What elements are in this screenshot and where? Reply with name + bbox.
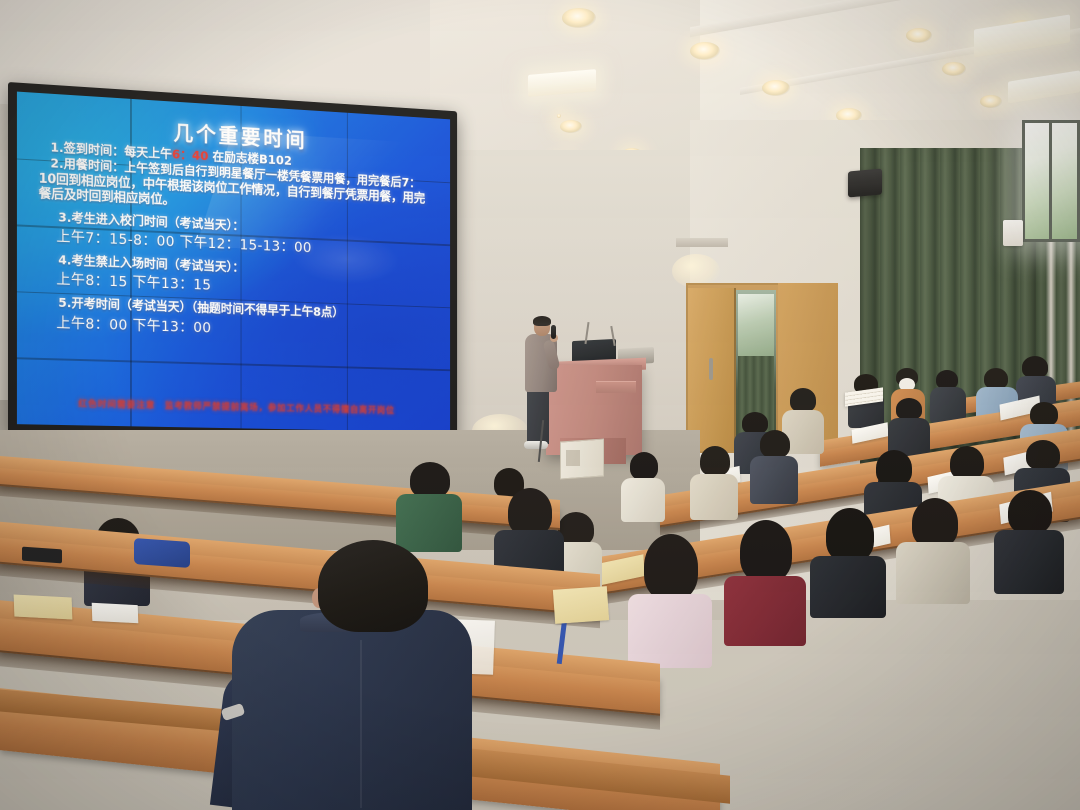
video-wall-screen: 几个重要时间 1.签到时间：每天上午6：40 在励志楼B102 2.用餐时间：上… bbox=[17, 92, 450, 433]
person-torso bbox=[628, 594, 712, 668]
person-hair bbox=[742, 412, 768, 434]
slide-content: 几个重要时间 1.签到时间：每天上午6：40 在励志楼B102 2.用餐时间：上… bbox=[17, 92, 450, 433]
item1-red-time: 6：40 bbox=[172, 147, 208, 164]
person-hair bbox=[630, 452, 658, 480]
person-torso bbox=[896, 542, 970, 604]
person-hair bbox=[950, 446, 984, 480]
person-torso bbox=[396, 494, 462, 552]
person-torso bbox=[621, 478, 665, 522]
ceiling-downlight bbox=[560, 120, 582, 133]
desk-items bbox=[22, 547, 62, 564]
lectern-drawer[interactable] bbox=[596, 381, 636, 393]
person-hair bbox=[876, 450, 912, 486]
ceiling-downlight bbox=[690, 42, 720, 60]
person-hair bbox=[644, 534, 698, 600]
person-hair bbox=[740, 520, 792, 582]
person-hair bbox=[1026, 440, 1060, 470]
person-torso bbox=[750, 456, 798, 504]
person-hair bbox=[896, 398, 922, 420]
presenter-hair bbox=[533, 316, 551, 326]
person-hair bbox=[790, 388, 816, 412]
foreground-person-hair bbox=[318, 540, 428, 632]
person-torso bbox=[994, 530, 1064, 594]
presenter-shoe bbox=[524, 441, 548, 449]
lecture-hall-photo: 几个重要时间 1.签到时间：每天上午6：40 在励志楼B102 2.用餐时间：上… bbox=[0, 0, 1080, 810]
video-wall-display[interactable]: 几个重要时间 1.签到时间：每天上午6：40 在励志楼B102 2.用餐时间：上… bbox=[8, 82, 457, 442]
person-hair bbox=[700, 446, 730, 476]
ceiling-mounted-speaker-icon bbox=[848, 169, 882, 198]
person-torso bbox=[690, 474, 738, 520]
person-hair bbox=[912, 498, 958, 548]
blue-bag bbox=[134, 538, 190, 568]
person-hair bbox=[1022, 356, 1048, 378]
handheld-microphone-icon bbox=[551, 325, 556, 339]
jacket-seam bbox=[360, 640, 362, 808]
yellow-folder bbox=[14, 594, 73, 619]
ceiling-downlight bbox=[557, 114, 561, 118]
foreground-person-jacket bbox=[232, 610, 472, 810]
box-label bbox=[566, 450, 580, 466]
person-hair bbox=[508, 488, 552, 536]
ceiling-downlight bbox=[906, 28, 932, 43]
ceiling-downlight bbox=[762, 80, 790, 96]
slide-footer-note: 红色时间需要注意 监考教师严禁提前离场，参加工作人员不得擅自离开岗位 bbox=[17, 398, 450, 417]
person-hair bbox=[826, 508, 874, 562]
person-hair bbox=[984, 368, 1008, 389]
yellow-folder bbox=[553, 586, 609, 624]
person-torso bbox=[810, 556, 886, 618]
presenter-legs bbox=[527, 390, 549, 444]
person-torso bbox=[724, 576, 806, 646]
person-hair bbox=[1008, 490, 1052, 534]
window-mullion bbox=[1049, 120, 1052, 242]
person-hair bbox=[1030, 402, 1058, 426]
door-handle[interactable] bbox=[709, 358, 713, 380]
person-hair bbox=[410, 462, 450, 498]
paper-sheet bbox=[92, 603, 139, 623]
ceiling-downlight bbox=[980, 95, 1002, 108]
wall-vent bbox=[676, 238, 728, 247]
ceiling-downlight bbox=[942, 62, 966, 76]
person-hair bbox=[760, 430, 790, 458]
ceiling-downlight bbox=[562, 8, 596, 28]
door-glass bbox=[738, 294, 774, 356]
wall-mounted-device bbox=[1003, 220, 1023, 246]
